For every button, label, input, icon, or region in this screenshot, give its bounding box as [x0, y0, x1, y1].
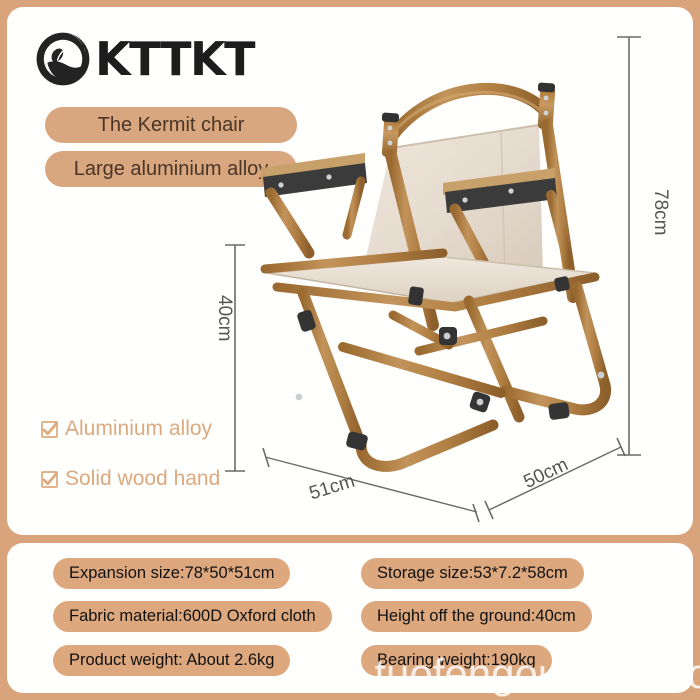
checkbox-checked-icon: [41, 421, 58, 438]
checkbox-checked-icon: [41, 471, 58, 488]
spec-pill: Bearing weight:190kg: [361, 645, 552, 676]
spec-cell-product-weight: Product weight: About 2.6kg: [27, 640, 347, 681]
spec-pill: Fabric material:600D Oxford cloth: [53, 601, 332, 632]
spec-cell-height-off-ground: Height off the ground:40cm: [353, 596, 673, 637]
dimension-line-seat-height: [225, 245, 245, 471]
dimension-label-seat-height: 40cm: [213, 295, 235, 341]
spec-pill: Height off the ground:40cm: [361, 601, 592, 632]
infographic-root: KTTKT The Kermit chair Large aluminium a…: [0, 0, 700, 700]
spec-pill: Product weight: About 2.6kg: [53, 645, 290, 676]
title-pill-2-label: Large aluminium alloy: [74, 158, 269, 181]
feature-1-label: Solid wood hand: [65, 467, 220, 491]
spec-pill: Storage size:53*7.2*58cm: [361, 558, 584, 589]
feature-solid-wood-hand: Solid wood hand: [41, 467, 220, 491]
chair-left-armrest: [261, 153, 367, 253]
dimension-label-height: 78cm: [649, 189, 671, 235]
brand-name: KTTKT: [95, 36, 254, 82]
specifications-grid: Expansion size:78*50*51cm Storage size:5…: [7, 543, 693, 693]
leaf-circle-logo-icon: [33, 29, 93, 89]
feature-0-label: Aluminium alloy: [65, 417, 212, 441]
title-pill-1-label: The Kermit chair: [98, 114, 245, 137]
specifications-card: Expansion size:78*50*51cm Storage size:5…: [7, 543, 693, 693]
feature-aluminium-alloy: Aluminium alloy: [41, 417, 212, 441]
spec-cell-fabric-material: Fabric material:600D Oxford cloth: [27, 596, 347, 637]
spec-pill: Expansion size:78*50*51cm: [53, 558, 290, 589]
chair-cross-braces: [343, 315, 543, 393]
brand-lockup: KTTKT: [33, 29, 254, 89]
chair-product-illustration: [243, 25, 643, 495]
spec-cell-bearing-weight: Bearing weight:190kg: [353, 640, 673, 681]
chair-svg: [243, 25, 643, 495]
product-hero-card: KTTKT The Kermit chair Large aluminium a…: [7, 7, 693, 535]
spec-cell-storage-size: Storage size:53*7.2*58cm: [353, 553, 673, 594]
spec-cell-expansion-size: Expansion size:78*50*51cm: [27, 553, 347, 594]
